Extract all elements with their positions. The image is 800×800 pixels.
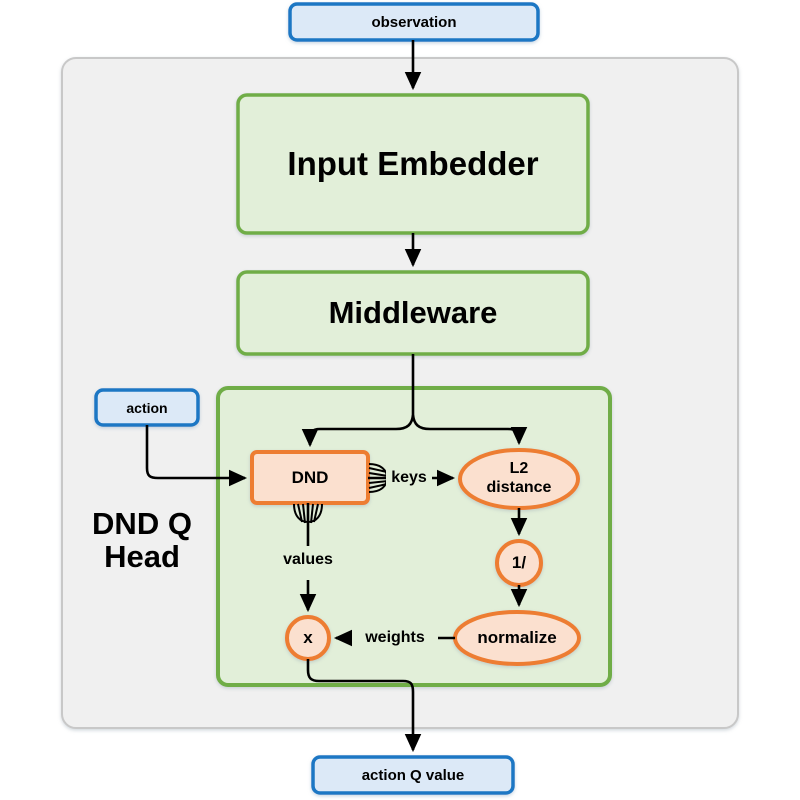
observation-box[interactable]: [290, 4, 538, 40]
action-q-value-box[interactable]: [313, 757, 513, 793]
input-embedder-box[interactable]: [238, 95, 588, 233]
diagram-canvas: observation Input Embedder Middleware ac…: [0, 0, 800, 800]
diagram-svg: [0, 0, 800, 800]
multiply-node[interactable]: [287, 617, 329, 659]
action-box[interactable]: [96, 390, 198, 425]
l2-distance-node[interactable]: [460, 450, 578, 508]
normalize-node[interactable]: [455, 612, 579, 664]
dnd-op-box[interactable]: [252, 452, 368, 503]
middleware-box[interactable]: [238, 272, 588, 354]
inverse-node[interactable]: [497, 541, 541, 585]
